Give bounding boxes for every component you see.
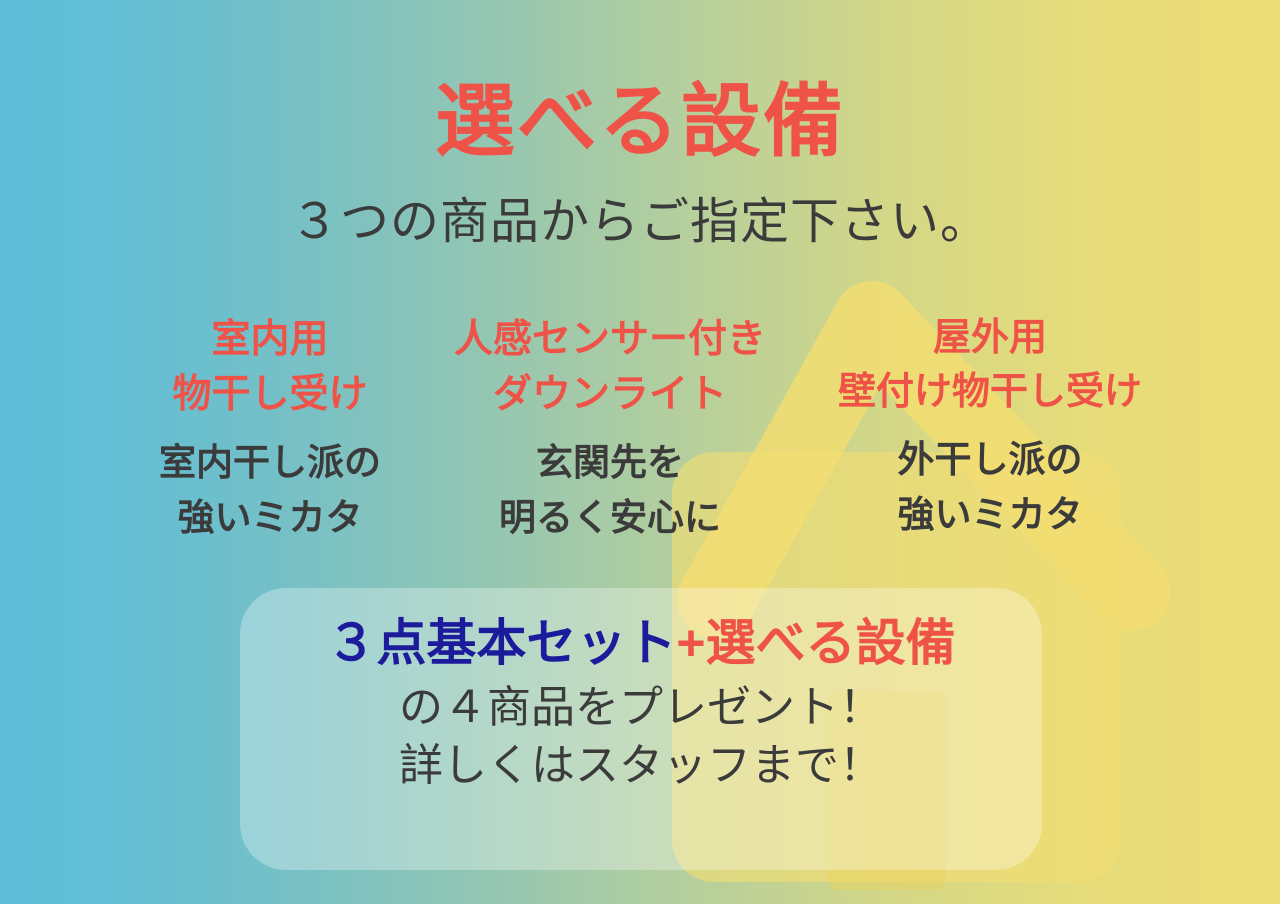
option-body-line1: 室内干し派の	[120, 435, 420, 491]
option-heading-line2: ダウンライト	[420, 367, 800, 422]
option-body-line2: 明るく安心に	[420, 490, 800, 546]
option-body-line1: 外干し派の	[800, 432, 1180, 488]
option-body: 外干し派の 強いミカタ	[800, 432, 1180, 543]
option-column-outdoor: 屋外用 壁付け物干し受け 外干し派の 強いミカタ	[800, 312, 1180, 543]
promotional-poster: 選べる設備 ３つの商品からご指定下さい。 室内用 物干し受け 室内干し派の 強い…	[0, 0, 1280, 904]
promo-detail-line-1: の４商品をプレゼント！	[240, 679, 1042, 737]
promo-headline: ３点基本セット+選べる設備	[240, 615, 1042, 671]
option-body-line2: 強いミカタ	[800, 487, 1180, 543]
option-body-line1: 玄関先を	[420, 435, 800, 491]
option-heading-line1: 室内用	[120, 312, 420, 367]
promo-detail-line-2: 詳しくはスタッフまで！	[240, 737, 1042, 795]
option-body: 室内干し派の 強いミカタ	[120, 435, 420, 546]
option-column-downlight: 人感センサー付き ダウンライト 玄関先を 明るく安心に	[420, 312, 800, 546]
page-title: 選べる設備	[0, 82, 1280, 162]
option-heading: 室内用 物干し受け	[120, 312, 420, 423]
option-body: 玄関先を 明るく安心に	[420, 435, 800, 546]
promo-headline-optional: 選べる設備	[706, 615, 956, 671]
promo-headline-plus: +	[676, 615, 705, 671]
option-heading-line1: 人感センサー付き	[420, 312, 800, 367]
option-heading-line2: 物干し受け	[120, 367, 420, 422]
option-body-line2: 強いミカタ	[120, 490, 420, 546]
options-row: 室内用 物干し受け 室内干し派の 強いミカタ 人感センサー付き ダウンライト 玄…	[120, 312, 1180, 546]
promo-text-block: ３点基本セット+選べる設備 の４商品をプレゼント！ 詳しくはスタッフまで！	[240, 615, 1042, 795]
option-column-indoor: 室内用 物干し受け 室内干し派の 強いミカタ	[120, 312, 420, 546]
option-heading: 人感センサー付き ダウンライト	[420, 312, 800, 423]
option-heading-line1: 屋外用	[800, 312, 1180, 366]
option-heading-line2: 壁付け物干し受け	[800, 366, 1180, 420]
page-subtitle: ３つの商品からご指定下さい。	[0, 198, 1280, 247]
promo-headline-base-set: ３点基本セット	[326, 615, 676, 671]
option-heading: 屋外用 壁付け物干し受け	[800, 312, 1180, 420]
